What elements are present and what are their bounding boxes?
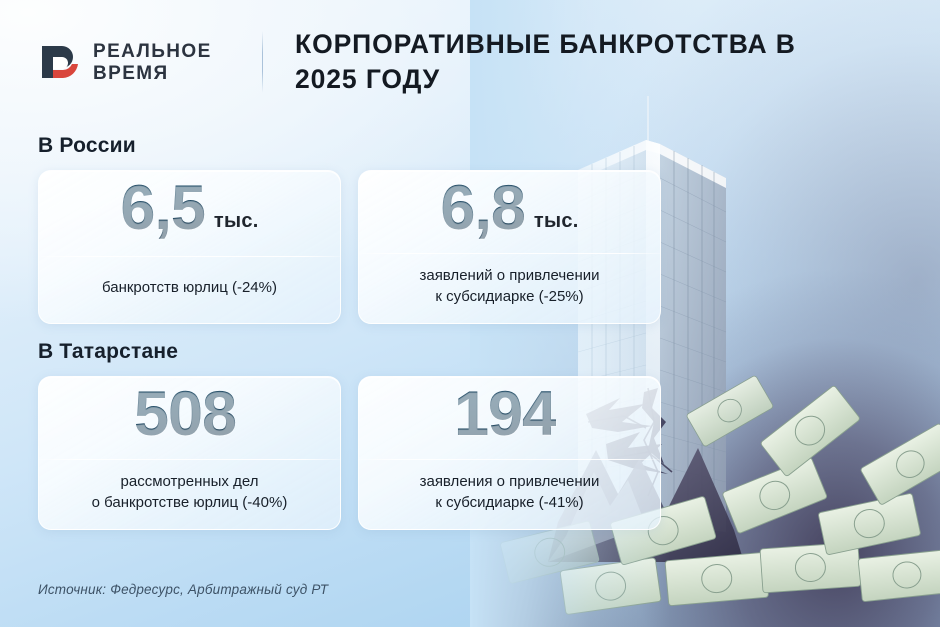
- header: РЕАЛЬНОЕ ВРЕМЯ КОРПОРАТИВНЫЕ БАНКРОТСТВА…: [38, 24, 940, 100]
- stat-number: 194: [454, 383, 556, 446]
- stat-caption: заявления о привлечении к субсидиарке (-…: [359, 460, 660, 529]
- stat-card-tatarstan-cases: 508 рассмотренных дел о банкротстве юрли…: [38, 376, 341, 530]
- brand-logo[interactable]: РЕАЛЬНОЕ ВРЕМЯ: [38, 40, 238, 84]
- stat-card-russia-bankruptcies: 6,5 тыс. банкротств юрлиц (-24%): [38, 170, 341, 324]
- stat-card-tatarstan-subsidiary-claims: 194 заявления о привлечении к субсидиарк…: [358, 376, 661, 530]
- brand-line-2: ВРЕМЯ: [93, 64, 212, 83]
- stat-card-russia-subsidiary-claims: 6,8 тыс. заявлений о привлечении к субси…: [358, 170, 661, 324]
- section-heading-russia: В России: [38, 134, 136, 158]
- page-title: КОРПОРАТИВНЫЕ БАНКРОТСТВА В 2025 ГОДУ: [295, 27, 815, 97]
- stat-caption: банкротств юрлиц (-24%): [39, 257, 340, 323]
- card-row-tatarstan: 508 рассмотренных дел о банкротстве юрли…: [38, 376, 661, 530]
- header-divider: [262, 31, 263, 93]
- stat-caption: рассмотренных дел о банкротстве юрлиц (-…: [39, 460, 340, 529]
- stat-number: 6,5: [120, 177, 205, 240]
- source-note: Источник: Федресурс, Арбитражный суд РТ: [38, 582, 328, 597]
- card-row-russia: 6,5 тыс. банкротств юрлиц (-24%) 6,8 тыс…: [38, 170, 661, 324]
- stat-unit: тыс.: [534, 210, 579, 233]
- brand-wordmark: РЕАЛЬНОЕ ВРЕМЯ: [93, 42, 212, 83]
- infographic-root: РЕАЛЬНОЕ ВРЕМЯ КОРПОРАТИВНЫЕ БАНКРОТСТВА…: [0, 0, 940, 627]
- stat-unit: тыс.: [214, 210, 259, 233]
- stat-number: 508: [134, 383, 236, 446]
- stat-value-wrap: 508: [39, 377, 340, 459]
- stat-value-wrap: 6,5 тыс.: [39, 171, 340, 256]
- stat-caption: заявлений о привлечении к субсидиарке (-…: [359, 254, 660, 323]
- brand-line-1: РЕАЛЬНОЕ: [93, 42, 212, 61]
- stat-number: 6,8: [440, 177, 525, 240]
- stat-value-wrap: 6,8 тыс.: [359, 171, 660, 253]
- section-heading-tatarstan: В Татарстане: [38, 340, 178, 364]
- realnoe-vremya-logo-icon: [38, 40, 82, 84]
- stat-value-wrap: 194: [359, 377, 660, 459]
